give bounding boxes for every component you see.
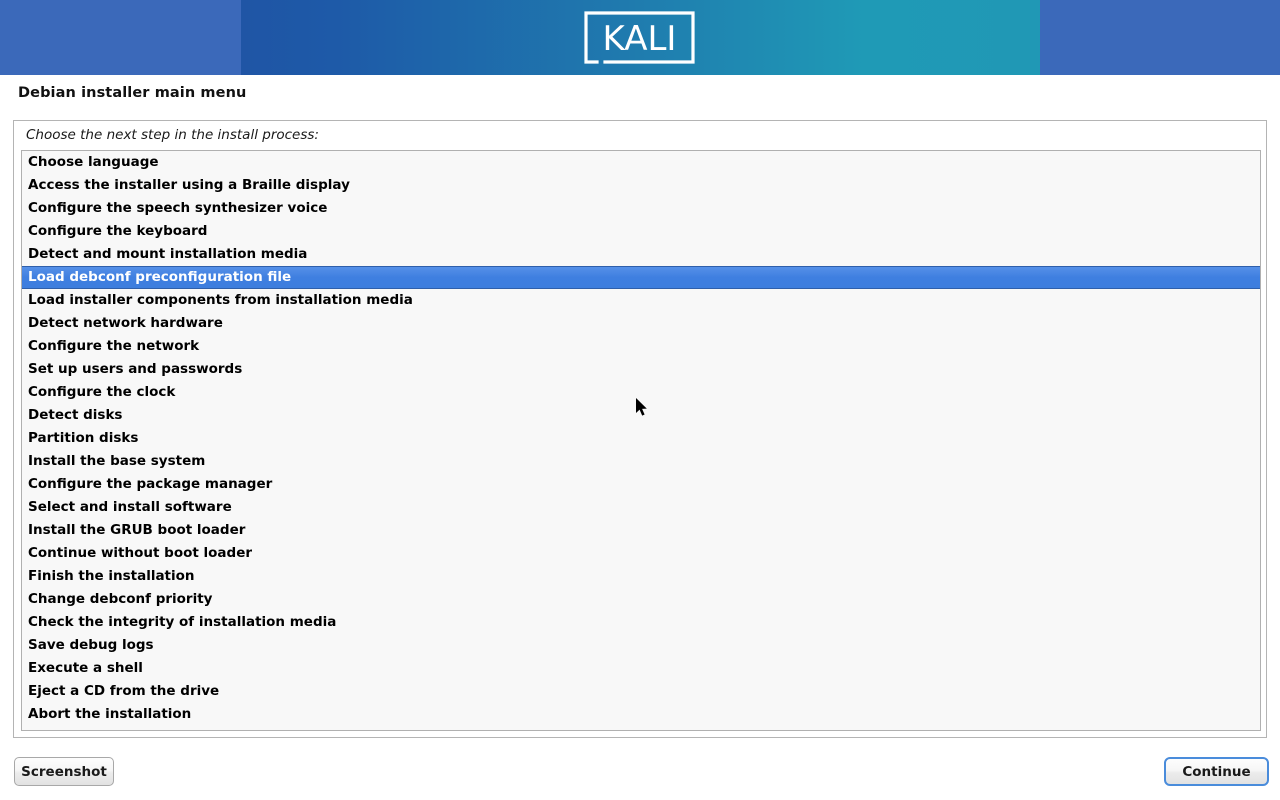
page-title: Debian installer main menu [18, 85, 246, 101]
menu-item[interactable]: Detect disks [22, 404, 1260, 427]
menu-item[interactable]: Execute a shell [22, 657, 1260, 680]
menu-item[interactable]: Save debug logs [22, 634, 1260, 657]
menu-item[interactable]: Configure the clock [22, 381, 1260, 404]
menu-item[interactable]: Detect network hardware [22, 312, 1260, 335]
kali-banner: KALI [0, 0, 1280, 75]
menu-item[interactable]: Change debconf priority [22, 588, 1260, 611]
menu-item[interactable]: Check the integrity of installation medi… [22, 611, 1260, 634]
continue-button[interactable]: Continue [1164, 757, 1269, 786]
menu-item[interactable]: Select and install software [22, 496, 1260, 519]
menu-frame: Choose the next step in the install proc… [13, 120, 1267, 738]
menu-item[interactable]: Choose language [22, 151, 1260, 174]
menu-item[interactable]: Partition disks [22, 427, 1260, 450]
menu-item[interactable]: Load installer components from installat… [22, 289, 1260, 312]
menu-item[interactable]: Detect and mount installation media [22, 243, 1260, 266]
menu-item[interactable]: Set up users and passwords [22, 358, 1260, 381]
banner-left-block [0, 0, 241, 75]
menu-item[interactable]: Configure the speech synthesizer voice [22, 197, 1260, 220]
menu-item[interactable]: Load debconf preconfiguration file [22, 266, 1260, 289]
menu-item[interactable]: Configure the package manager [22, 473, 1260, 496]
menu-list[interactable]: Choose languageAccess the installer usin… [21, 150, 1261, 731]
installer-screen: KALI Debian installer main menu Choose t… [0, 0, 1280, 800]
menu-prompt: Choose the next step in the install proc… [26, 127, 319, 143]
menu-item[interactable]: Access the installer using a Braille dis… [22, 174, 1260, 197]
menu-item[interactable]: Abort the installation [22, 703, 1260, 726]
kali-logo: KALI [583, 10, 696, 65]
menu-item[interactable]: Finish the installation [22, 565, 1260, 588]
menu-item[interactable]: Install the GRUB boot loader [22, 519, 1260, 542]
menu-item[interactable]: Eject a CD from the drive [22, 680, 1260, 703]
screenshot-button[interactable]: Screenshot [14, 757, 114, 786]
menu-item[interactable]: Install the base system [22, 450, 1260, 473]
menu-list-inner: Choose languageAccess the installer usin… [22, 151, 1260, 726]
banner-right-block [1040, 0, 1280, 75]
menu-item[interactable]: Continue without boot loader [22, 542, 1260, 565]
menu-item[interactable]: Configure the network [22, 335, 1260, 358]
kali-logo-text: KALI [603, 19, 677, 59]
menu-item[interactable]: Configure the keyboard [22, 220, 1260, 243]
